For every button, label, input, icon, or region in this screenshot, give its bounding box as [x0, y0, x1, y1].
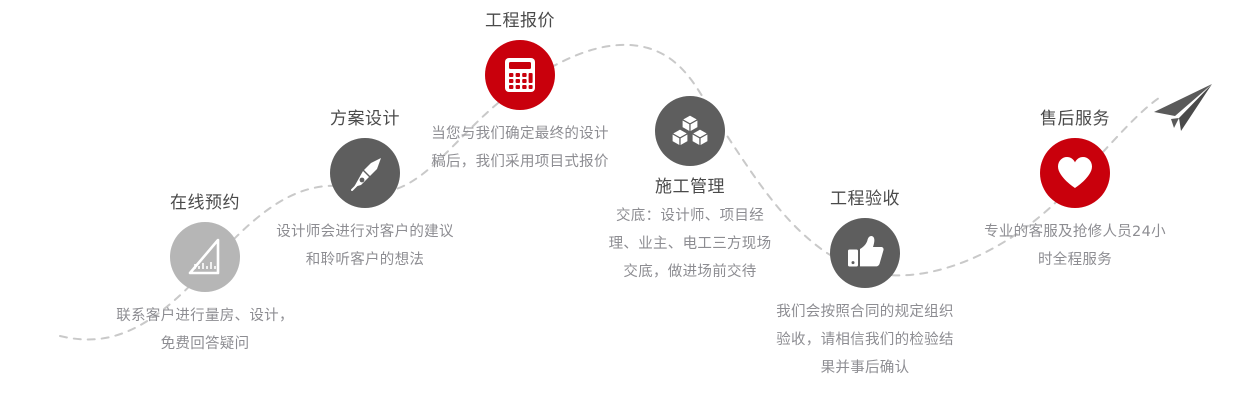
step-icon-container[interactable] — [330, 138, 400, 208]
step-icon-container[interactable] — [830, 218, 900, 288]
step-icon-container[interactable] — [655, 96, 725, 166]
step-description: 交底：设计师、项目经理、业主、电工三方现场交底，做进场前交待 — [604, 202, 776, 286]
step-project-quotation[interactable]: 工程报价 当您与我们确定最终的 — [425, 10, 615, 176]
cubes-icon — [669, 110, 711, 152]
step-project-acceptance[interactable]: 工程验收 我们会按照合同的规定组织验收，请相信我们的检验结果并事后确认 — [770, 188, 960, 382]
step-title: 工程验收 — [770, 188, 960, 210]
fountain-pen-icon — [345, 153, 385, 193]
heart-icon — [1055, 153, 1095, 193]
step-title: 施工管理 — [595, 176, 785, 198]
step-description: 专业的客服及抢修人员24小时全程服务 — [980, 218, 1170, 274]
triangle-ruler-icon — [184, 236, 226, 278]
step-construction-management[interactable]: 施工管理 交底：设计师、项目经理、业主、电工三方现场交底，做进场前交待 — [595, 96, 785, 286]
step-icon-container[interactable] — [170, 222, 240, 292]
step-title: 工程报价 — [425, 10, 615, 32]
step-description: 我们会按照合同的规定组织验收，请相信我们的检验结果并事后确认 — [770, 298, 960, 382]
step-after-sales-service[interactable]: 售后服务 专业的客服及抢修人员24小时全程服务 — [980, 108, 1170, 274]
step-title: 售后服务 — [980, 108, 1170, 130]
process-flow-infographic: 在线预约 联系客户进行量房、设计，免费回答疑问 方案设计 — [0, 0, 1245, 402]
step-description: 设计师会进行对客户的建议和聆听客户的想法 — [270, 218, 460, 274]
calculator-icon — [499, 54, 541, 96]
thumbs-up-icon — [844, 232, 886, 274]
step-icon-container[interactable] — [485, 40, 555, 110]
step-description: 联系客户进行量房、设计，免费回答疑问 — [110, 302, 300, 358]
step-description: 当您与我们确定最终的设计稿后，我们采用项目式报价 — [425, 120, 615, 176]
step-icon-container[interactable] — [1040, 138, 1110, 208]
